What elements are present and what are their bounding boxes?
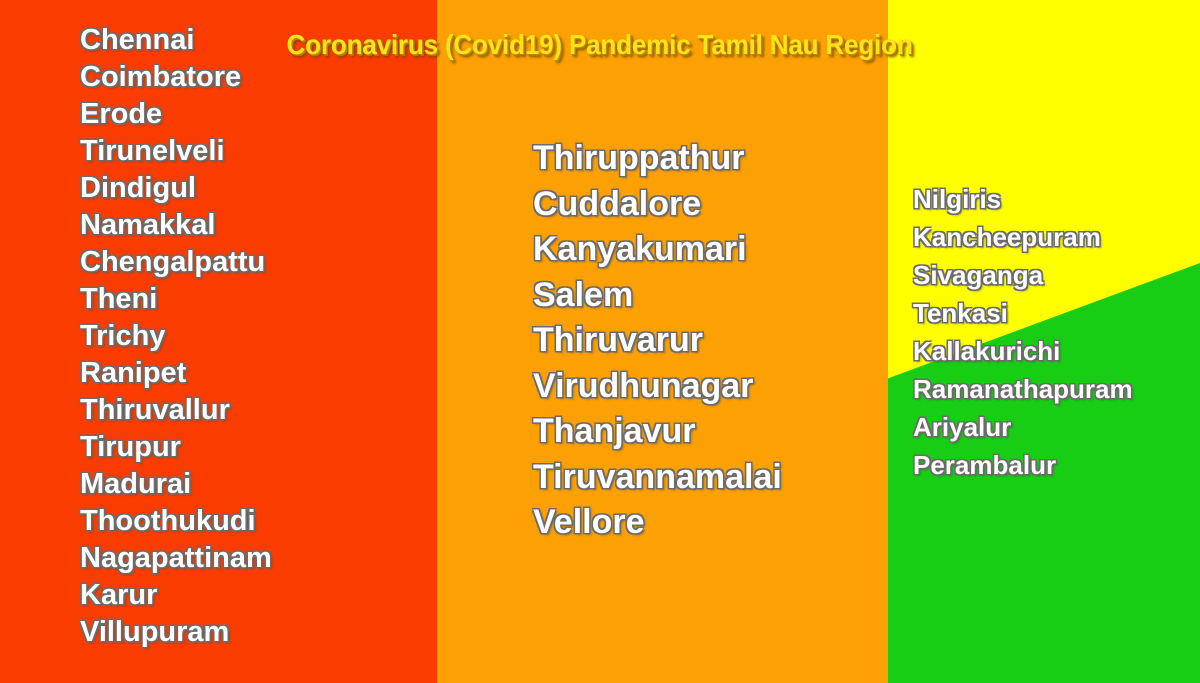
list-item: Ramanathapuram: [913, 370, 1133, 408]
list-item: Thanjavur: [533, 409, 782, 455]
green-zone-panel: Nilgiris Kancheepuram Sivaganga Tenkasi …: [888, 0, 1200, 683]
green-zone-district-list: Nilgiris Kancheepuram Sivaganga Tenkasi …: [913, 180, 1133, 484]
list-item: Tenkasi: [913, 294, 1133, 332]
covid-zone-infographic: Chennai Coimbatore Erode Tirunelveli Din…: [0, 0, 1200, 683]
list-item: Kancheepuram: [913, 218, 1133, 256]
list-item: Karur: [80, 577, 272, 614]
list-item: Villupuram: [80, 614, 272, 651]
list-item: Chengalpattu: [80, 244, 272, 281]
list-item: Erode: [80, 96, 272, 133]
red-zone-district-list: Chennai Coimbatore Erode Tirunelveli Din…: [80, 22, 272, 651]
list-item: Thiruvallur: [80, 392, 272, 429]
list-item: Salem: [533, 273, 782, 319]
list-item: Kallakurichi: [913, 332, 1133, 370]
list-item: Perambalur: [913, 446, 1133, 484]
list-item: Madurai: [80, 466, 272, 503]
list-item: Namakkal: [80, 207, 272, 244]
red-zone-panel: Chennai Coimbatore Erode Tirunelveli Din…: [0, 0, 437, 683]
list-item: Coimbatore: [80, 59, 272, 96]
list-item: Thiruppathur: [533, 136, 782, 182]
list-item: Theni: [80, 281, 272, 318]
list-item: Tiruvannamalai: [533, 455, 782, 501]
list-item: Kanyakumari: [533, 227, 782, 273]
list-item: Virudhunagar: [533, 364, 782, 410]
list-item: Thoothukudi: [80, 503, 272, 540]
list-item: Nagapattinam: [80, 540, 272, 577]
list-item: Cuddalore: [533, 182, 782, 228]
list-item: Thiruvarur: [533, 318, 782, 364]
list-item: Tirupur: [80, 429, 272, 466]
orange-zone-district-list: Thiruppathur Cuddalore Kanyakumari Salem…: [533, 136, 782, 546]
list-item: Vellore: [533, 500, 782, 546]
list-item: Sivaganga: [913, 256, 1133, 294]
list-item: Nilgiris: [913, 180, 1133, 218]
orange-zone-panel: Thiruppathur Cuddalore Kanyakumari Salem…: [437, 0, 888, 683]
list-item: Tirunelveli: [80, 133, 272, 170]
list-item: Trichy: [80, 318, 272, 355]
list-item: Dindigul: [80, 170, 272, 207]
list-item: Chennai: [80, 22, 272, 59]
list-item: Ariyalur: [913, 408, 1133, 446]
list-item: Ranipet: [80, 355, 272, 392]
